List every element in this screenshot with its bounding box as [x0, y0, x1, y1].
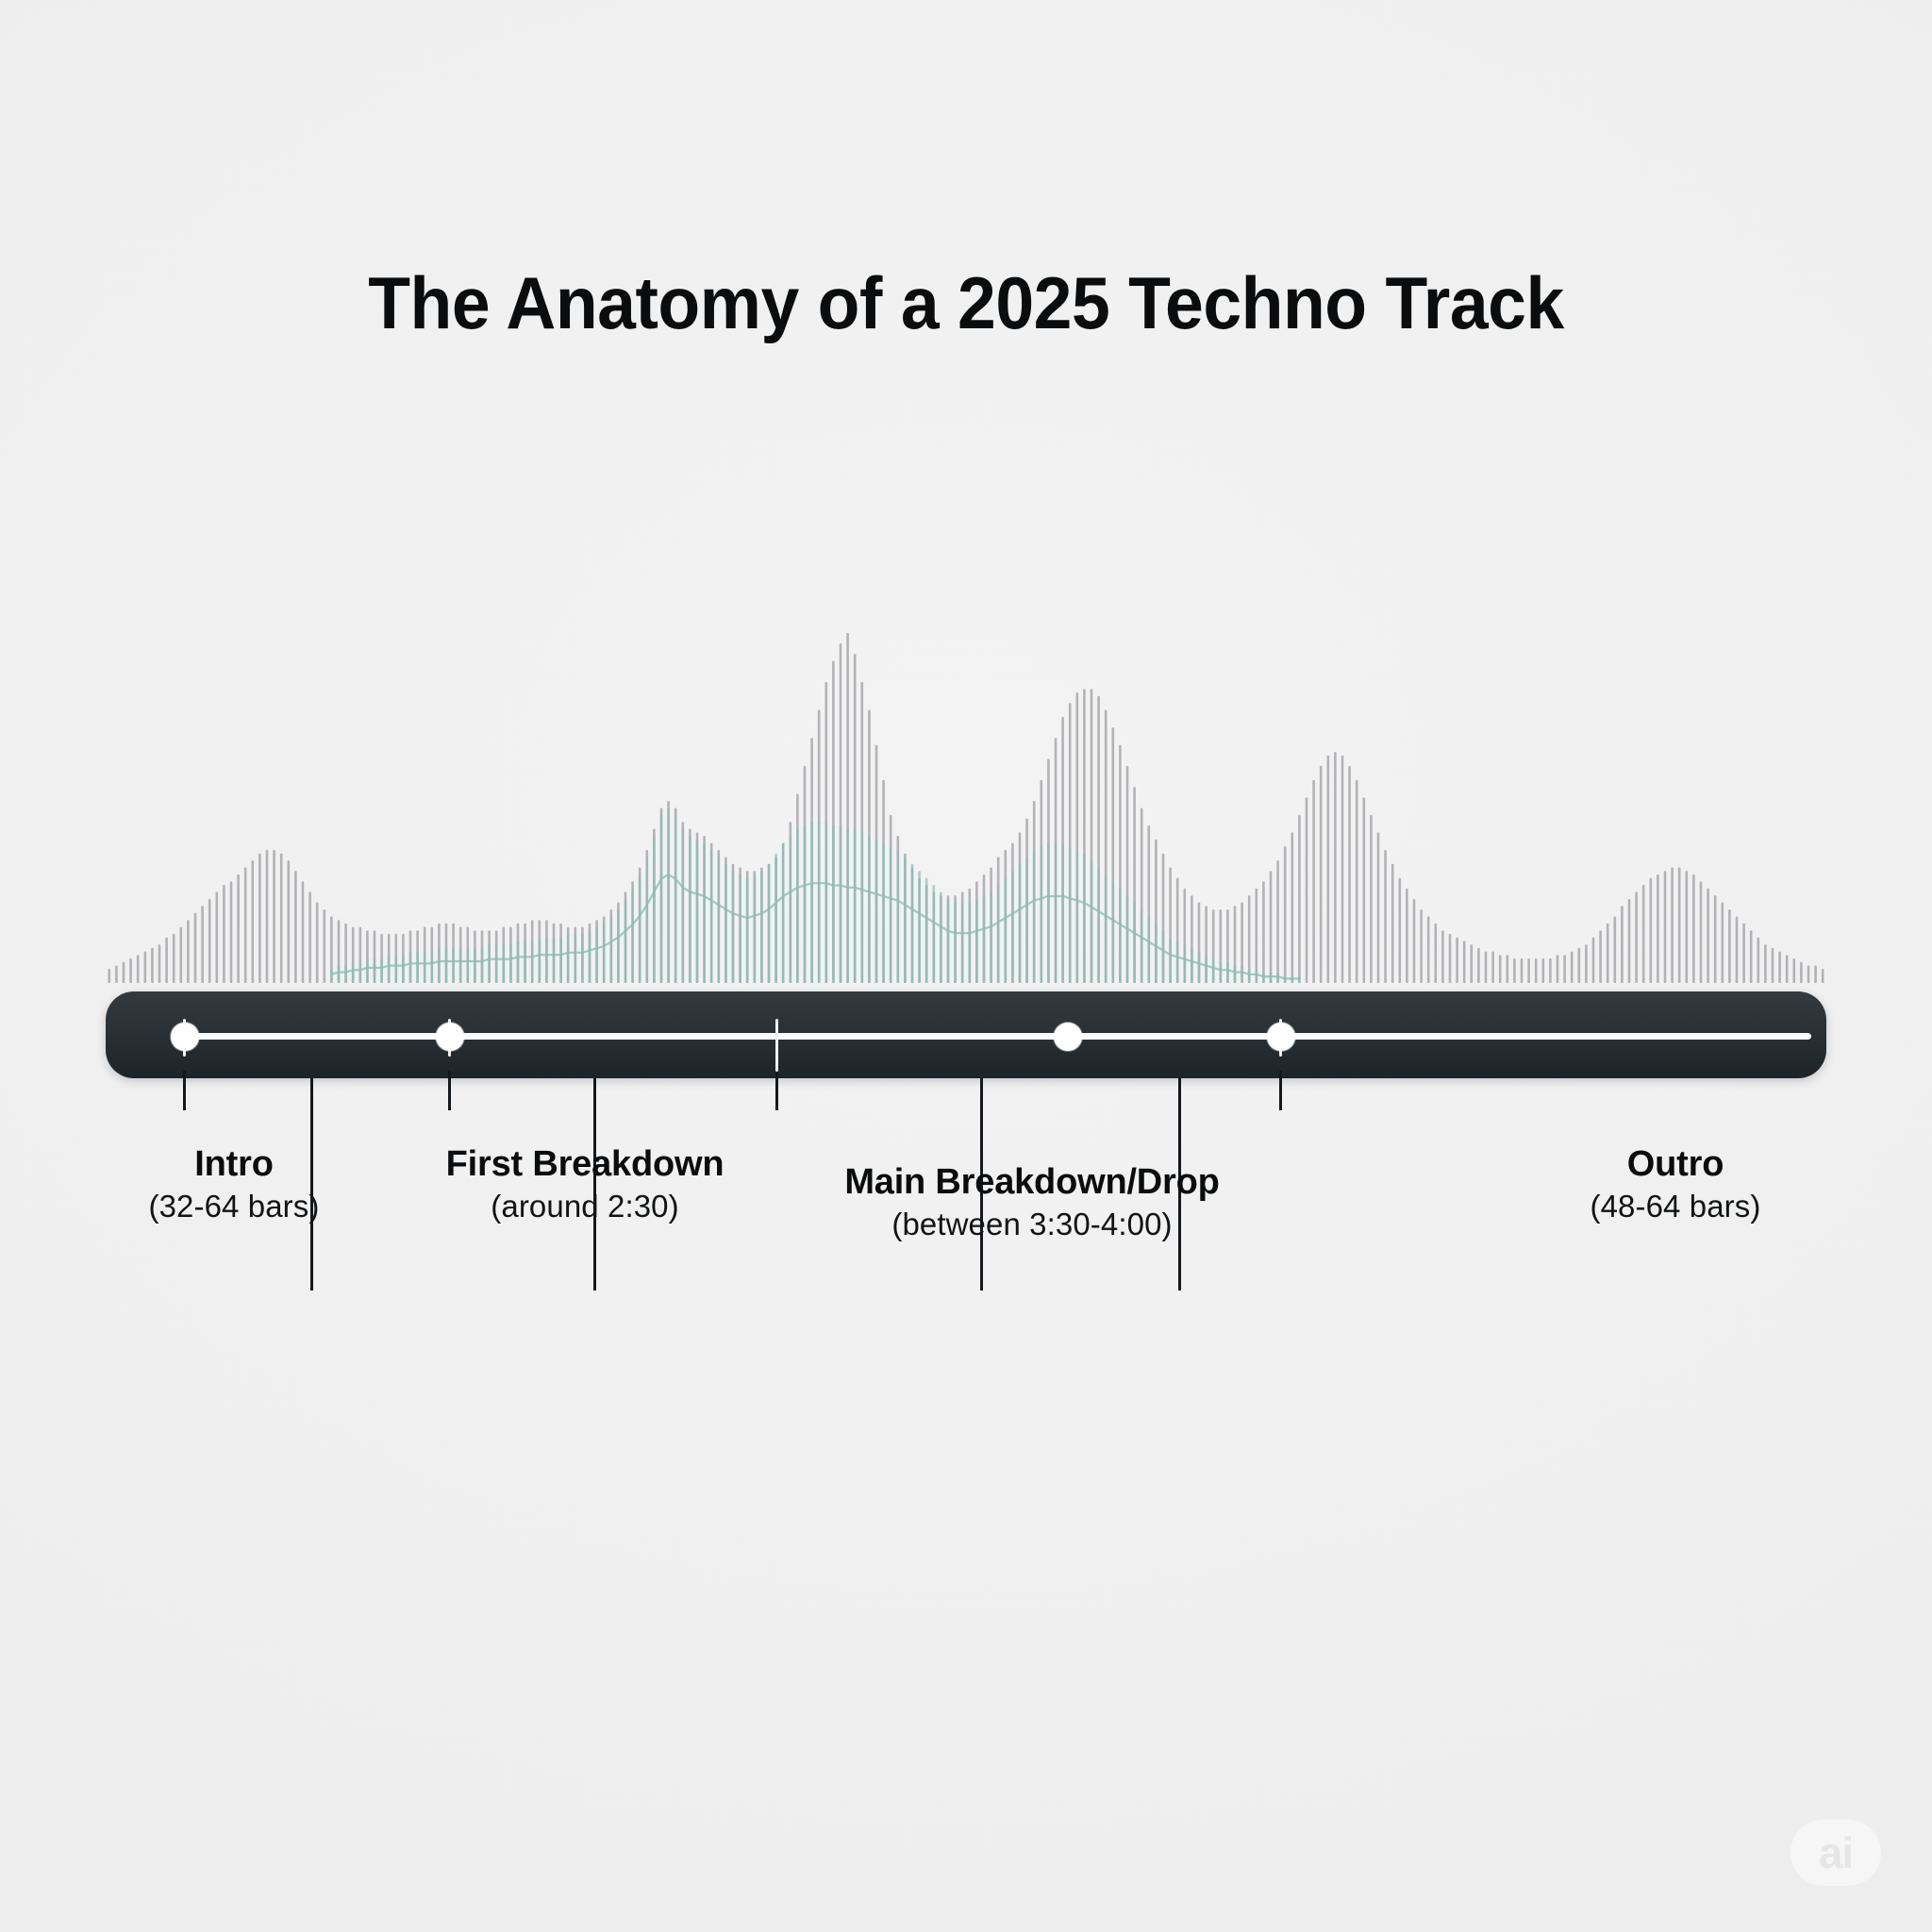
main-drop-marker[interactable]: [1054, 1023, 1082, 1051]
timeline-marker-stem: [775, 1073, 778, 1110]
section-subtitle-main-breakdown-drop: (between 3:30-4:00): [655, 1207, 1409, 1243]
timeline-tick: [775, 1019, 778, 1072]
section-title-outro: Outro: [1298, 1144, 1932, 1185]
section-label-outro: Outro(48-64 bars): [1298, 1144, 1932, 1224]
ai-watermark-logo: ai: [1790, 1820, 1881, 1886]
section-title-main-breakdown-drop: Main Breakdown/Drop: [655, 1162, 1409, 1203]
waveform-trend-line: [331, 874, 1299, 978]
waveform-visualization: [106, 623, 1826, 986]
ai-watermark-label: ai: [1819, 1831, 1853, 1874]
waveform-series-amplitude-gray: [108, 633, 1824, 983]
section-subtitle-outro: (48-64 bars): [1298, 1189, 1932, 1225]
timeline-marker-stem: [1279, 1071, 1282, 1110]
timeline-marker-stem: [183, 1071, 186, 1110]
timeline-marker-stem: [448, 1071, 451, 1110]
outro-marker[interactable]: [1267, 1023, 1295, 1051]
first-breakdown-marker[interactable]: [436, 1023, 464, 1051]
waveform-svg: [106, 623, 1826, 986]
intro-marker[interactable]: [171, 1023, 199, 1051]
timeline-progress-line: [185, 1033, 1811, 1040]
page-title: The Anatomy of a 2025 Techno Track: [58, 266, 1874, 340]
section-label-main-breakdown-drop: Main Breakdown/Drop(between 3:30-4:00): [655, 1162, 1409, 1242]
